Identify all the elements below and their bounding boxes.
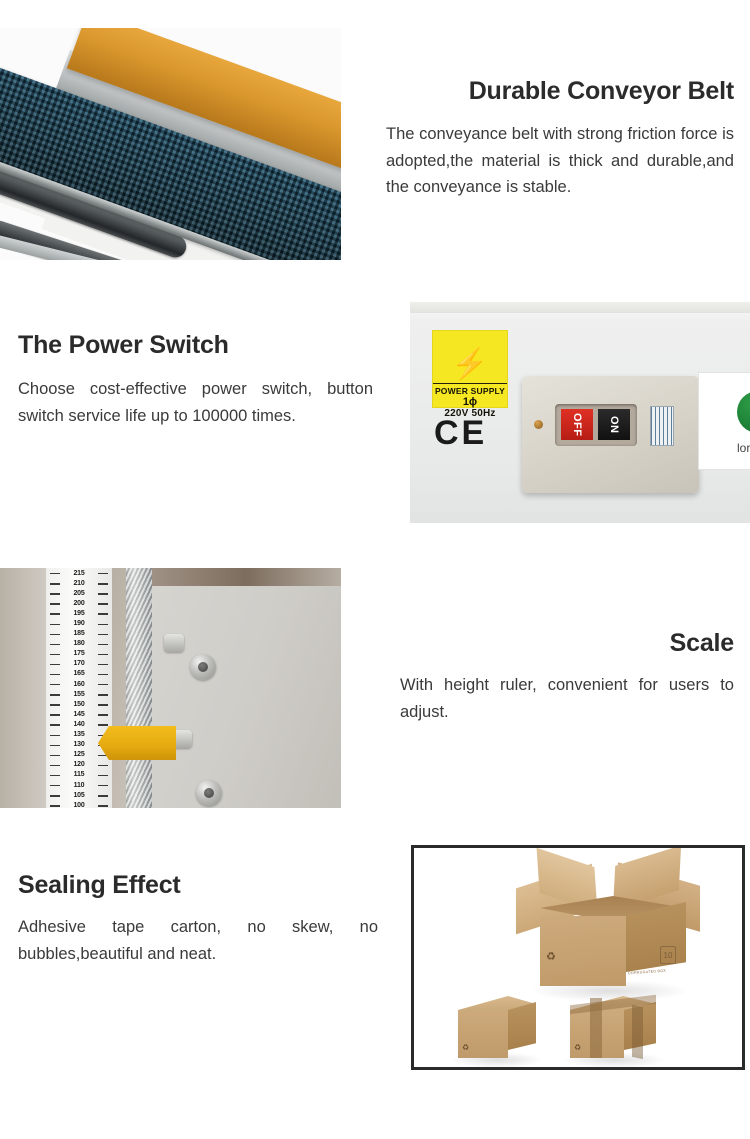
brand-name-label: lora <box>737 441 750 455</box>
ruler-tick: 120 <box>46 760 112 770</box>
ruler-tick: 205 <box>46 588 112 598</box>
ruler-tick: 190 <box>46 618 112 628</box>
sealing-effect-body: Adhesive tape carton, no skew, no bubble… <box>18 914 378 967</box>
scale-body: With height ruler, convenient for users … <box>400 672 734 725</box>
scale-background-gap <box>152 568 341 586</box>
power-switch-body: Choose cost-effective power switch, butt… <box>18 376 373 429</box>
panel-bolt <box>190 654 216 680</box>
carton-stage: ♻ CORRUGATED BOX 10 ♻ ♻ <box>414 848 742 1067</box>
small-open-carton: ♻ <box>454 994 538 1060</box>
scale-text-block: Scale With height ruler, convenient for … <box>400 628 734 725</box>
carton-front-face: ♻ <box>540 916 626 986</box>
warning-line-1: POWER SUPPLY <box>433 386 507 396</box>
brand-logo-card: lora <box>698 372 750 470</box>
lightning-bolt-icon: ⚡ <box>451 350 488 380</box>
machine-side-panel <box>152 586 341 808</box>
power-switch-text-block: The Power Switch Choose cost-effective p… <box>18 330 373 429</box>
taped-closed-carton: ♻ <box>566 994 662 1060</box>
brand-circle-icon <box>737 391 750 433</box>
carton-illustration-frame: ♻ CORRUGATED BOX 10 ♻ ♻ <box>411 845 745 1070</box>
carton-side-face <box>508 1002 536 1050</box>
housing-screw <box>534 420 543 429</box>
large-open-carton: ♻ CORRUGATED BOX 10 <box>522 858 692 988</box>
power-switch-photo: ⚡ POWER SUPPLY 1ϕ 220V 50Hz CE OFF ON lo… <box>410 302 750 545</box>
recycle-icon: ♻ <box>574 1044 581 1052</box>
conveyor-belt-text-block: Durable Conveyor Belt The conveyance bel… <box>386 76 734 201</box>
ruler-tick: 110 <box>46 780 112 790</box>
panel-bolt <box>196 780 222 806</box>
ruler-tick: 160 <box>46 679 112 689</box>
panel-top-edge <box>410 302 750 313</box>
ruler-tick: 150 <box>46 699 112 709</box>
ruler-tick: 170 <box>46 659 112 669</box>
carton-front-face: ♻ <box>458 1010 508 1058</box>
ruler-tick: 195 <box>46 608 112 618</box>
ruler-tick: 165 <box>46 669 112 679</box>
ruler-tick: 140 <box>46 719 112 729</box>
panel-bottom-edge <box>410 523 750 545</box>
ruler-tick: 145 <box>46 709 112 719</box>
product-feature-page: Durable Conveyor Belt The conveyance bel… <box>0 0 750 1139</box>
conveyor-belt-body: The conveyance belt with strong friction… <box>386 121 734 201</box>
ruler-tick: 105 <box>46 790 112 800</box>
warning-line-2: 1ϕ <box>433 396 507 408</box>
high-voltage-warning-label: ⚡ POWER SUPPLY 1ϕ 220V 50Hz <box>432 330 508 408</box>
ruler-tick: 125 <box>46 750 112 760</box>
switch-recess: OFF ON <box>555 404 637 446</box>
ruler-tick: 215 <box>46 568 112 578</box>
ruler-tick: 155 <box>46 689 112 699</box>
scale-photo: 2152102052001951901851801751701651601551… <box>0 568 341 808</box>
power-switch-title: The Power Switch <box>18 330 373 360</box>
conveyor-belt-photo <box>0 28 341 260</box>
switch-housing: OFF ON <box>522 376 699 493</box>
power-off-button[interactable]: OFF <box>561 409 593 440</box>
ruler-tick: 210 <box>46 578 112 588</box>
height-ruler: 2152102052001951901851801751701651601551… <box>46 568 112 808</box>
conveyor-belt-title: Durable Conveyor Belt <box>386 76 734 106</box>
scale-title: Scale <box>400 628 734 658</box>
power-on-button[interactable]: ON <box>598 409 630 440</box>
ruler-tick: 175 <box>46 649 112 659</box>
sealing-effect-title: Sealing Effect <box>18 870 378 900</box>
ce-mark-icon: CE <box>434 414 487 453</box>
post-nut <box>164 634 184 652</box>
adhesive-tape-side <box>632 1005 643 1059</box>
galvanized-post <box>126 568 152 808</box>
machine-left-wall <box>0 568 46 808</box>
yellow-height-pointer[interactable] <box>98 726 176 760</box>
ruler-tick: 185 <box>46 629 112 639</box>
ruler-tick: 100 <box>46 800 112 808</box>
switch-spec-label <box>650 406 674 446</box>
conveyor-belt-scene <box>0 28 341 260</box>
carton-stamp: 10 <box>660 946 676 964</box>
ruler-tick: 180 <box>46 639 112 649</box>
recycle-icon: ♻ <box>462 1044 469 1052</box>
ruler-tick: 115 <box>46 770 112 780</box>
ruler-tick: 200 <box>46 598 112 608</box>
machine-panel-surface: ⚡ POWER SUPPLY 1ϕ 220V 50Hz CE OFF ON lo… <box>410 302 750 545</box>
adhesive-tape-vertical <box>590 998 602 1058</box>
sealing-effect-text-block: Sealing Effect Adhesive tape carton, no … <box>18 870 378 967</box>
recycle-icon: ♻ <box>546 952 556 963</box>
